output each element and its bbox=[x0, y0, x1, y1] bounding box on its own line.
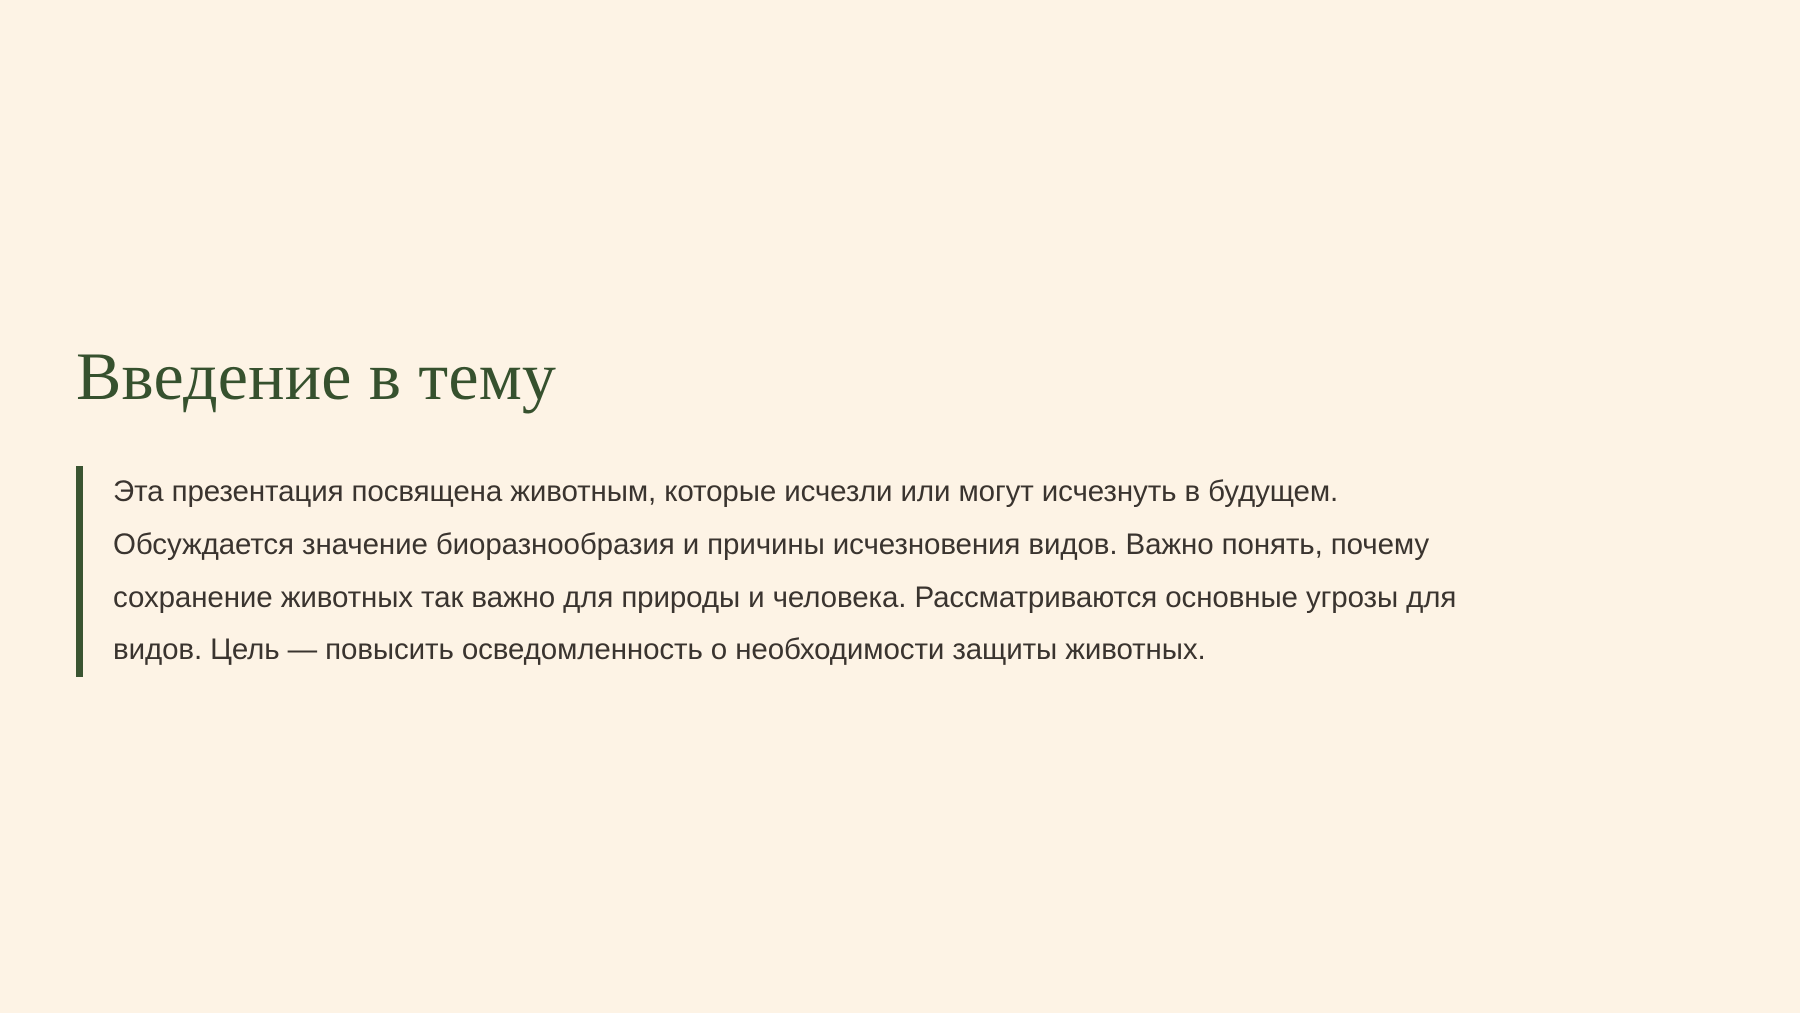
body-callout: Эта презентация посвящена животным, кото… bbox=[76, 466, 1696, 677]
body-paragraph: Эта презентация посвящена животным, кото… bbox=[83, 466, 1513, 677]
page-title: Введение в тему bbox=[76, 341, 556, 412]
slide: Введение в тему Эта презентация посвящен… bbox=[0, 0, 1800, 1013]
accent-bar bbox=[76, 466, 83, 677]
